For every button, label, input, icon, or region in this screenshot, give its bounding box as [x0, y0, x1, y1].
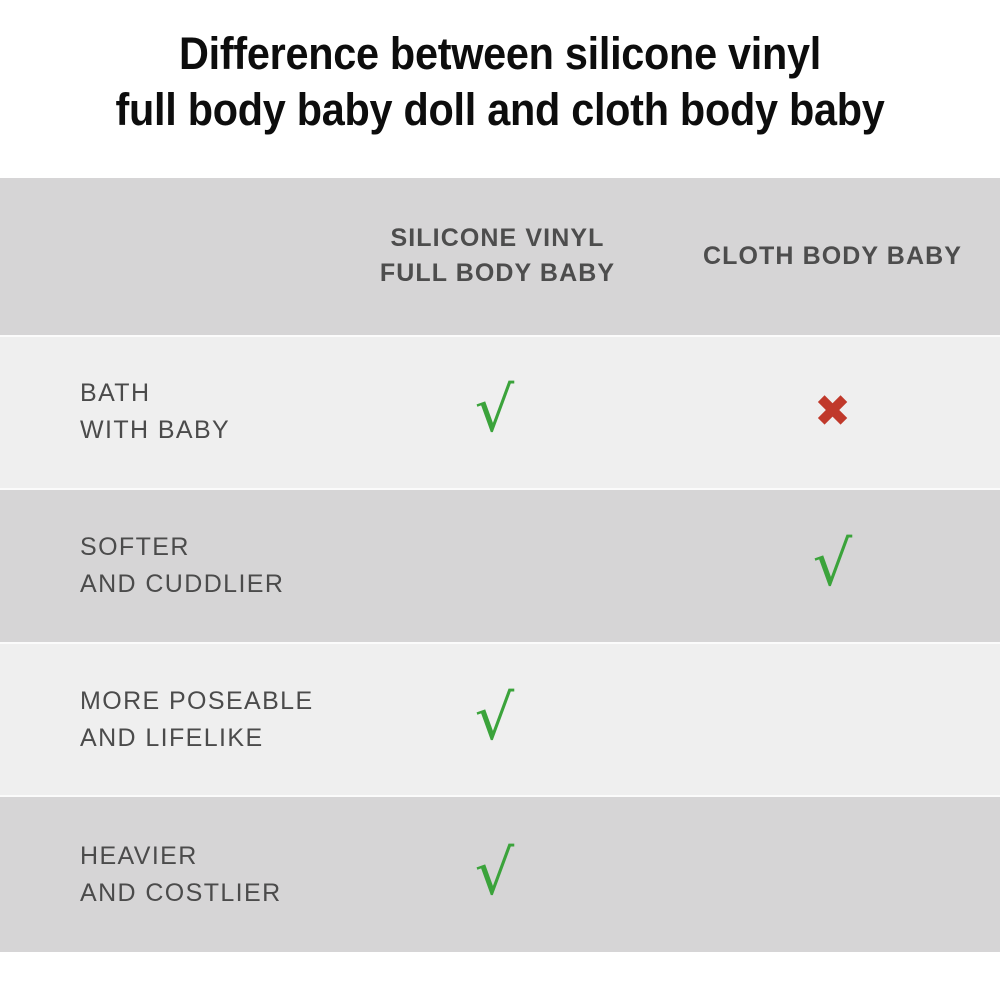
header-cell-silicone: SILICONE VINYL FULL BODY BABY	[330, 221, 665, 291]
row-label-line-2: AND CUDDLIER	[80, 566, 330, 603]
row-label-softer: SOFTER AND CUDDLIER	[0, 529, 330, 603]
table-row: SOFTER AND CUDDLIER √	[0, 490, 1000, 645]
table-header-row: SILICONE VINYL FULL BODY BABY CLOTH BODY…	[0, 178, 1000, 337]
check-icon: √	[813, 533, 853, 595]
row-label-bath: BATH WITH BABY	[0, 375, 330, 449]
row-label-line-1: HEAVIER	[80, 838, 330, 875]
row-label-heavier: HEAVIER AND COSTLIER	[0, 838, 330, 912]
page-title: Difference between silicone vinyl full b…	[0, 26, 1000, 138]
cell-bath-silicone: √	[330, 383, 665, 441]
table-row: HEAVIER AND COSTLIER √	[0, 797, 1000, 952]
cell-bath-cloth: ✖	[665, 390, 1000, 434]
cell-poseable-silicone: √	[330, 691, 665, 749]
cross-icon: ✖	[814, 390, 851, 434]
comparison-table: SILICONE VINYL FULL BODY BABY CLOTH BODY…	[0, 178, 1000, 952]
title-line-1: Difference between silicone vinyl	[40, 26, 960, 82]
row-label-line-1: BATH	[80, 375, 330, 412]
header-cloth-line-1: CLOTH BODY BABY	[703, 239, 962, 274]
cell-heavier-silicone: √	[330, 846, 665, 904]
check-icon: √	[475, 379, 515, 441]
row-label-line-2: AND LIFELIKE	[80, 720, 330, 757]
check-icon: √	[475, 842, 515, 904]
cell-softer-cloth: √	[665, 537, 1000, 595]
row-label-line-1: SOFTER	[80, 529, 330, 566]
row-label-line-2: AND COSTLIER	[80, 875, 330, 912]
row-label-line-2: WITH BABY	[80, 412, 330, 449]
check-icon: √	[475, 687, 515, 749]
header-cell-cloth: CLOTH BODY BABY	[665, 239, 1000, 274]
table-row: BATH WITH BABY √ ✖	[0, 337, 1000, 490]
header-silicone-line-2: FULL BODY BABY	[380, 256, 615, 291]
row-label-poseable: MORE POSEABLE AND LIFELIKE	[0, 683, 330, 757]
table-row: MORE POSEABLE AND LIFELIKE √	[0, 644, 1000, 797]
infographic-page: Difference between silicone vinyl full b…	[0, 0, 1000, 1000]
row-label-line-1: MORE POSEABLE	[80, 683, 330, 720]
title-line-2: full body baby doll and cloth body baby	[40, 82, 960, 138]
header-silicone-line-1: SILICONE VINYL	[390, 221, 604, 256]
